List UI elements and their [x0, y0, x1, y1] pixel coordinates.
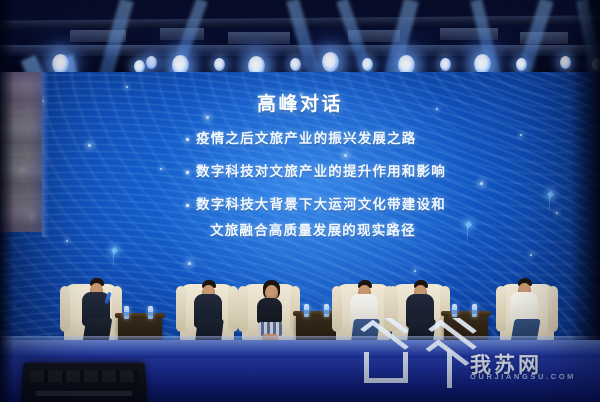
truss-bar-upper — [0, 15, 600, 29]
water-bottle — [472, 304, 477, 317]
slide-bullet-item-continuation: 文旅融合高质量发展的现实路径 — [186, 221, 506, 241]
presentation-slide: 高峰对话 疫情之后文旅产业的振兴发展之路 数字科技对文旅产业的提升作用和影响 数… — [0, 72, 600, 272]
stage-light — [362, 58, 373, 71]
water-bottle — [452, 304, 457, 317]
rig-box — [228, 32, 290, 44]
stage-photo-scene: 高峰对话 疫情之后文旅产业的振兴发展之路 数字科技对文旅产业的提升作用和影响 数… — [0, 0, 600, 402]
rig-box — [70, 30, 126, 42]
stage-light — [52, 54, 69, 74]
rig-box — [348, 30, 400, 42]
stage-light — [214, 58, 225, 71]
slide-bullet-item: 数字科技对文旅产业的提升作用和影响 — [186, 162, 506, 182]
slide-title: 高峰对话 — [0, 89, 600, 116]
slide-bullet-item: 疫情之后文旅产业的振兴发展之路 — [186, 129, 506, 149]
bullet-dot-icon — [186, 138, 189, 141]
stage-light — [322, 52, 339, 72]
stage-light — [440, 58, 451, 71]
left-vignette — [0, 0, 14, 402]
slide-bullet-text: 疫情之后文旅产业的振兴发展之路 — [196, 129, 417, 149]
water-bottle — [124, 306, 129, 319]
water-bottle — [324, 304, 329, 317]
stage-light — [146, 56, 157, 69]
slide-bullet-list: 疫情之后文旅产业的振兴发展之路 数字科技对文旅产业的提升作用和影响 数字科技大背… — [186, 129, 506, 254]
monitor-vents — [30, 370, 138, 382]
torso — [257, 298, 282, 324]
teleprompter-monitor — [21, 363, 148, 402]
slide-bullet-text: 文旅融合高质量发展的现实路径 — [210, 221, 416, 241]
bullet-dot-icon — [186, 204, 189, 207]
right-vignette — [570, 0, 600, 340]
water-bottle — [304, 304, 309, 317]
slide-bullet-text: 数字科技对文旅产业的提升作用和影响 — [196, 162, 446, 182]
bullet-dot-icon — [186, 171, 189, 174]
rig-box — [160, 28, 204, 40]
truss-bar-lower — [0, 45, 600, 56]
monitor-stand — [35, 391, 132, 396]
slide-bullet-item: 数字科技大背景下大运河文化带建设和 — [186, 195, 506, 215]
rig-box — [520, 32, 568, 44]
water-bottle — [148, 306, 153, 319]
watermark-brand-url: OURJIANGSU.COM — [470, 372, 576, 381]
slide-bullet-text: 数字科技大背景下大运河文化带建设和 — [196, 195, 446, 215]
stage-light — [474, 54, 491, 74]
stage-light — [290, 58, 301, 71]
stage-light — [516, 58, 527, 71]
rig-box — [440, 28, 498, 40]
